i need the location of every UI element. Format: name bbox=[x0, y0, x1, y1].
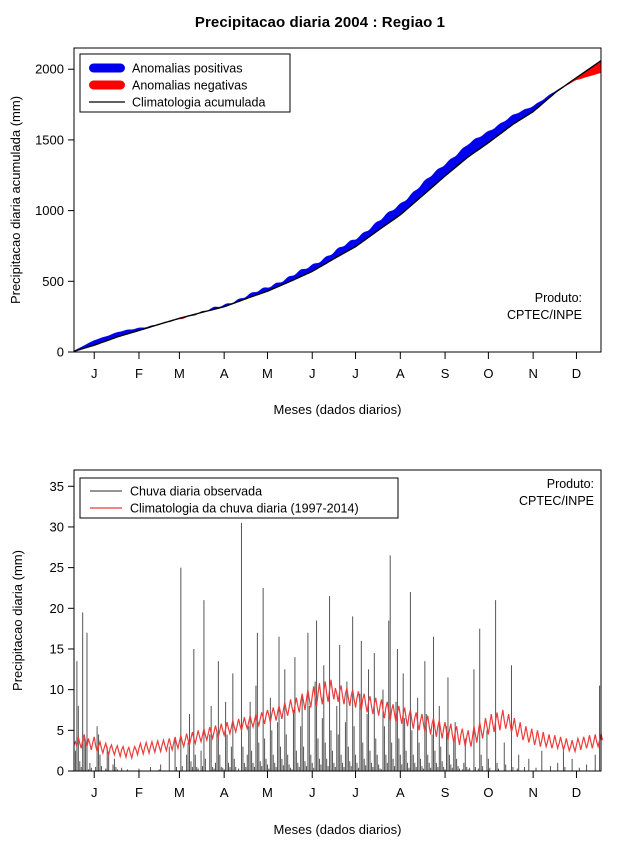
y-axis-label: Precipitacao diaria (mm) bbox=[10, 550, 25, 691]
chart-legend: Chuva diaria observadaClimatologia da ch… bbox=[80, 478, 398, 518]
x-tick-label: F bbox=[135, 366, 143, 381]
produto-annotation-line2: CPTEC/INPE bbox=[507, 308, 582, 322]
y-tick-label: 25 bbox=[50, 560, 64, 575]
produto-annotation-line2: CPTEC/INPE bbox=[519, 494, 594, 508]
x-tick-label: S bbox=[441, 785, 450, 800]
legend-label: Anomalias negativas bbox=[132, 79, 247, 93]
y-tick-label: 1500 bbox=[35, 132, 64, 147]
y-axis-group: 05101520253035 bbox=[50, 479, 74, 779]
y-tick-label: 30 bbox=[50, 519, 64, 534]
page-title: Precipitacao diaria 2004 : Regiao 1 bbox=[0, 14, 640, 31]
legend-swatch bbox=[89, 81, 125, 90]
x-axis-label: Meses (dados diarios) bbox=[274, 402, 402, 417]
x-tick-label: M bbox=[262, 785, 273, 800]
y-tick-label: 15 bbox=[50, 641, 64, 656]
y-tick-label: 500 bbox=[42, 274, 64, 289]
x-tick-label: A bbox=[396, 366, 405, 381]
y-tick-label: 5 bbox=[57, 723, 64, 738]
y-tick-label: 0 bbox=[57, 345, 64, 360]
y-tick-label: 10 bbox=[50, 682, 64, 697]
x-tick-label: D bbox=[572, 366, 581, 381]
accumulated-precipitation-chart: 0500100015002000Precipitacao diaria acum… bbox=[0, 0, 640, 430]
x-tick-label: D bbox=[572, 785, 581, 800]
x-tick-label: N bbox=[528, 366, 537, 381]
y-axis-group: 0500100015002000 bbox=[35, 62, 74, 360]
x-tick-label: J bbox=[309, 366, 316, 381]
x-tick-label: N bbox=[528, 785, 537, 800]
daily-precipitation-chart: 05101520253035Precipitacao diaria (mm)JF… bbox=[0, 430, 640, 850]
x-tick-label: J bbox=[352, 785, 359, 800]
daily-precipitation-panel: 05101520253035Precipitacao diaria (mm)JF… bbox=[0, 430, 640, 850]
x-tick-label: A bbox=[396, 785, 405, 800]
x-tick-label: J bbox=[91, 785, 98, 800]
x-tick-label: M bbox=[174, 366, 185, 381]
x-axis-group: JFMAMJJASOND bbox=[91, 352, 581, 381]
accumulated-precipitation-panel: Precipitacao diaria 2004 : Regiao 1 0500… bbox=[0, 0, 640, 430]
x-axis-label: Meses (dados diarios) bbox=[274, 822, 402, 837]
x-tick-label: J bbox=[91, 366, 98, 381]
x-tick-label: A bbox=[220, 366, 229, 381]
legend-label: Climatologia acumulada bbox=[132, 96, 265, 110]
chart-legend: Anomalias positivasAnomalias negativasCl… bbox=[80, 54, 290, 112]
y-tick-label: 2000 bbox=[35, 62, 64, 77]
y-tick-label: 0 bbox=[57, 764, 64, 779]
x-tick-label: S bbox=[441, 366, 450, 381]
x-tick-label: A bbox=[220, 785, 229, 800]
legend-label: Climatologia da chuva diaria (1997-2014) bbox=[130, 502, 359, 516]
produto-annotation-line1: Produto: bbox=[535, 291, 582, 305]
x-tick-label: J bbox=[309, 785, 316, 800]
legend-label: Anomalias positivas bbox=[132, 62, 242, 76]
precipitation-report-page: Precipitacao diaria 2004 : Regiao 1 0500… bbox=[0, 0, 640, 850]
x-tick-label: O bbox=[483, 366, 493, 381]
legend-label: Chuva diaria observada bbox=[130, 485, 262, 499]
x-tick-label: F bbox=[135, 785, 143, 800]
positive-anomaly-area bbox=[200, 87, 564, 313]
x-tick-label: O bbox=[483, 785, 493, 800]
x-tick-label: M bbox=[262, 366, 273, 381]
x-axis-group: JFMAMJJASOND bbox=[91, 771, 581, 800]
y-axis-label: Precipitacao diaria acumulada (mm) bbox=[8, 96, 23, 304]
y-tick-label: 1000 bbox=[35, 203, 64, 218]
produto-annotation-line1: Produto: bbox=[547, 477, 594, 491]
y-tick-label: 35 bbox=[50, 479, 64, 494]
y-tick-label: 20 bbox=[50, 601, 64, 616]
x-tick-label: J bbox=[352, 366, 359, 381]
legend-swatch bbox=[89, 64, 125, 73]
x-tick-label: M bbox=[174, 785, 185, 800]
